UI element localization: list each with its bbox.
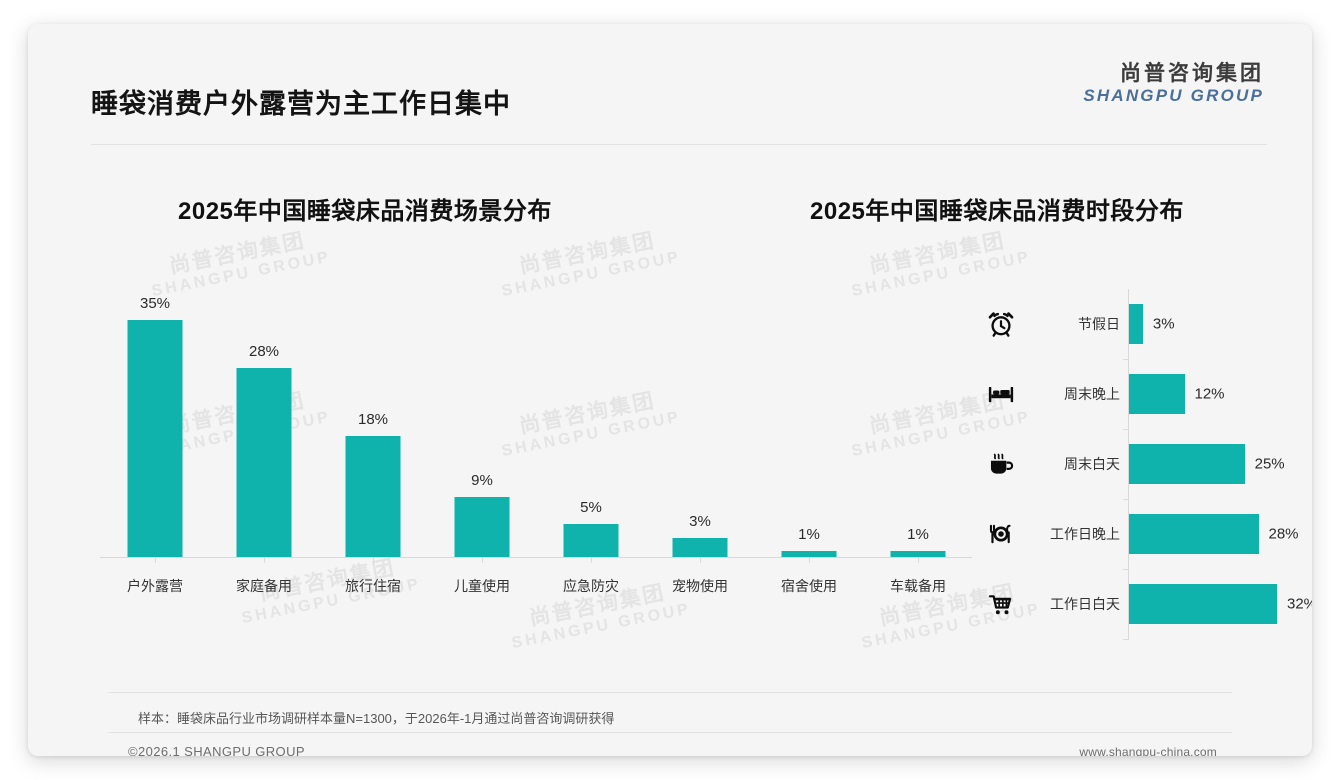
right-chart-title: 2025年中国睡袋床品消费时段分布 [810, 191, 1184, 226]
category-label: 家庭备用 [209, 576, 319, 596]
horizontal-bar[interactable] [1129, 374, 1185, 414]
axis-tick [155, 558, 156, 563]
bar-column: 1% [863, 286, 973, 558]
bed-icon [984, 377, 1018, 411]
category-label: 周末晚上 [1028, 384, 1120, 404]
category-label: 宿舍使用 [754, 576, 864, 596]
bar-value-label: 25% [1255, 456, 1285, 473]
page-title: 睡袋消费户外露营为主工作日集中 [91, 82, 511, 121]
bar-row: 周末白天25% [968, 429, 1298, 499]
bar-value-label: 3% [1153, 316, 1175, 333]
brand-logo: 尚普咨询集团 SHANGPU GROUP [1083, 62, 1264, 106]
bar-column: 18% [318, 286, 428, 558]
horizontal-bar[interactable] [1129, 514, 1259, 554]
bar-row: 周末晚上12% [968, 359, 1298, 429]
horizontal-bar[interactable] [1129, 304, 1143, 344]
category-label: 节假日 [1028, 314, 1120, 334]
axis-tick [264, 558, 265, 563]
bar-value-label: 3% [689, 513, 711, 530]
category-label: 车载备用 [863, 576, 973, 596]
bar-value-label: 18% [358, 411, 388, 428]
bar-value-label: 5% [580, 499, 602, 516]
sample-note: 样本：睡袋床品行业市场调研样本量N=1300，于2026年-1月通过尚普咨询调研… [138, 708, 614, 727]
bar-value-label: 35% [140, 295, 170, 312]
coffee-mug-icon [984, 447, 1018, 481]
bar-value-label: 1% [798, 526, 820, 543]
infographic-page: 尚普咨询集团 SHANGPU GROUP 尚普咨询集团 SHANGPU GROU… [0, 0, 1340, 780]
brand-name-en: SHANGPU GROUP [1083, 87, 1264, 106]
vertical-bar[interactable] [673, 538, 728, 558]
bar-value-label: 28% [249, 343, 279, 360]
note-divider-bottom [108, 732, 1232, 733]
bar-column: 35% [100, 286, 210, 558]
watermark-cn: 尚普咨询集团 [146, 225, 329, 283]
left-chart-title: 2025年中国睡袋床品消费场景分布 [178, 191, 552, 226]
copyright-text: ©2026.1 SHANGPU GROUP [128, 744, 305, 756]
vertical-bars-plot: 35%28%18%9%5%3%1%1% [78, 286, 978, 558]
slide-card: 尚普咨询集团 SHANGPU GROUP 尚普咨询集团 SHANGPU GROU… [28, 24, 1312, 756]
horizontal-bar[interactable] [1129, 444, 1245, 484]
category-label: 工作日白天 [1028, 594, 1120, 614]
bar-value-label: 32% [1287, 596, 1312, 613]
bar-column: 9% [427, 286, 537, 558]
bar-column: 1% [754, 286, 864, 558]
bar-column: 3% [645, 286, 755, 558]
bar-column: 28% [209, 286, 319, 558]
category-label: 儿童使用 [427, 576, 537, 596]
watermark-cn: 尚普咨询集团 [496, 225, 679, 283]
header-divider [91, 144, 1267, 145]
alarm-clock-icon [984, 307, 1018, 341]
axis-tick [918, 558, 919, 563]
bar-row: 工作日晚上28% [968, 499, 1298, 569]
bar-value-label: 12% [1195, 386, 1225, 403]
axis-tick [809, 558, 810, 563]
watermark-cn: 尚普咨询集团 [846, 225, 1029, 283]
bar-value-label: 9% [471, 472, 493, 489]
vertical-bar[interactable] [346, 436, 401, 558]
bar-row: 节假日3% [968, 289, 1298, 359]
category-label: 户外露营 [100, 576, 210, 596]
website-link[interactable]: www.shangpu-china.com [1079, 745, 1217, 756]
bar-value-label: 1% [907, 526, 929, 543]
vertical-bar[interactable] [128, 320, 183, 558]
category-label: 宠物使用 [645, 576, 755, 596]
note-divider-top [108, 692, 1232, 693]
category-label: 应急防灾 [536, 576, 646, 596]
axis-tick [482, 558, 483, 563]
bar-column: 5% [536, 286, 646, 558]
bar-row: 工作日白天32% [968, 569, 1298, 639]
category-label: 周末白天 [1028, 454, 1120, 474]
brand-name-cn: 尚普咨询集团 [1083, 62, 1264, 85]
horizontal-bar[interactable] [1129, 584, 1277, 624]
header: 睡袋消费户外露营为主工作日集中 尚普咨询集团 SHANGPU GROUP [28, 24, 1312, 122]
category-label: 旅行住宿 [318, 576, 428, 596]
dinner-plate-icon [984, 517, 1018, 551]
bar-value-label: 28% [1269, 526, 1299, 543]
axis-tick [700, 558, 701, 563]
vertical-bar[interactable] [564, 524, 619, 558]
axis-tick [1123, 639, 1129, 640]
shopping-cart-icon [984, 587, 1018, 621]
category-label: 工作日晚上 [1028, 524, 1120, 544]
axis-tick [591, 558, 592, 563]
time-distribution-chart: 节假日3%周末晚上12%周末白天25%工作日晚上28%工作日白天32% [968, 289, 1298, 644]
scene-distribution-chart: 35%28%18%9%5%3%1%1% 户外露营家庭备用旅行住宿儿童使用应急防灾… [78, 286, 978, 616]
vertical-bar[interactable] [237, 368, 292, 558]
vertical-chart-axis [100, 557, 972, 558]
axis-tick [373, 558, 374, 563]
vertical-bar[interactable] [455, 497, 510, 558]
